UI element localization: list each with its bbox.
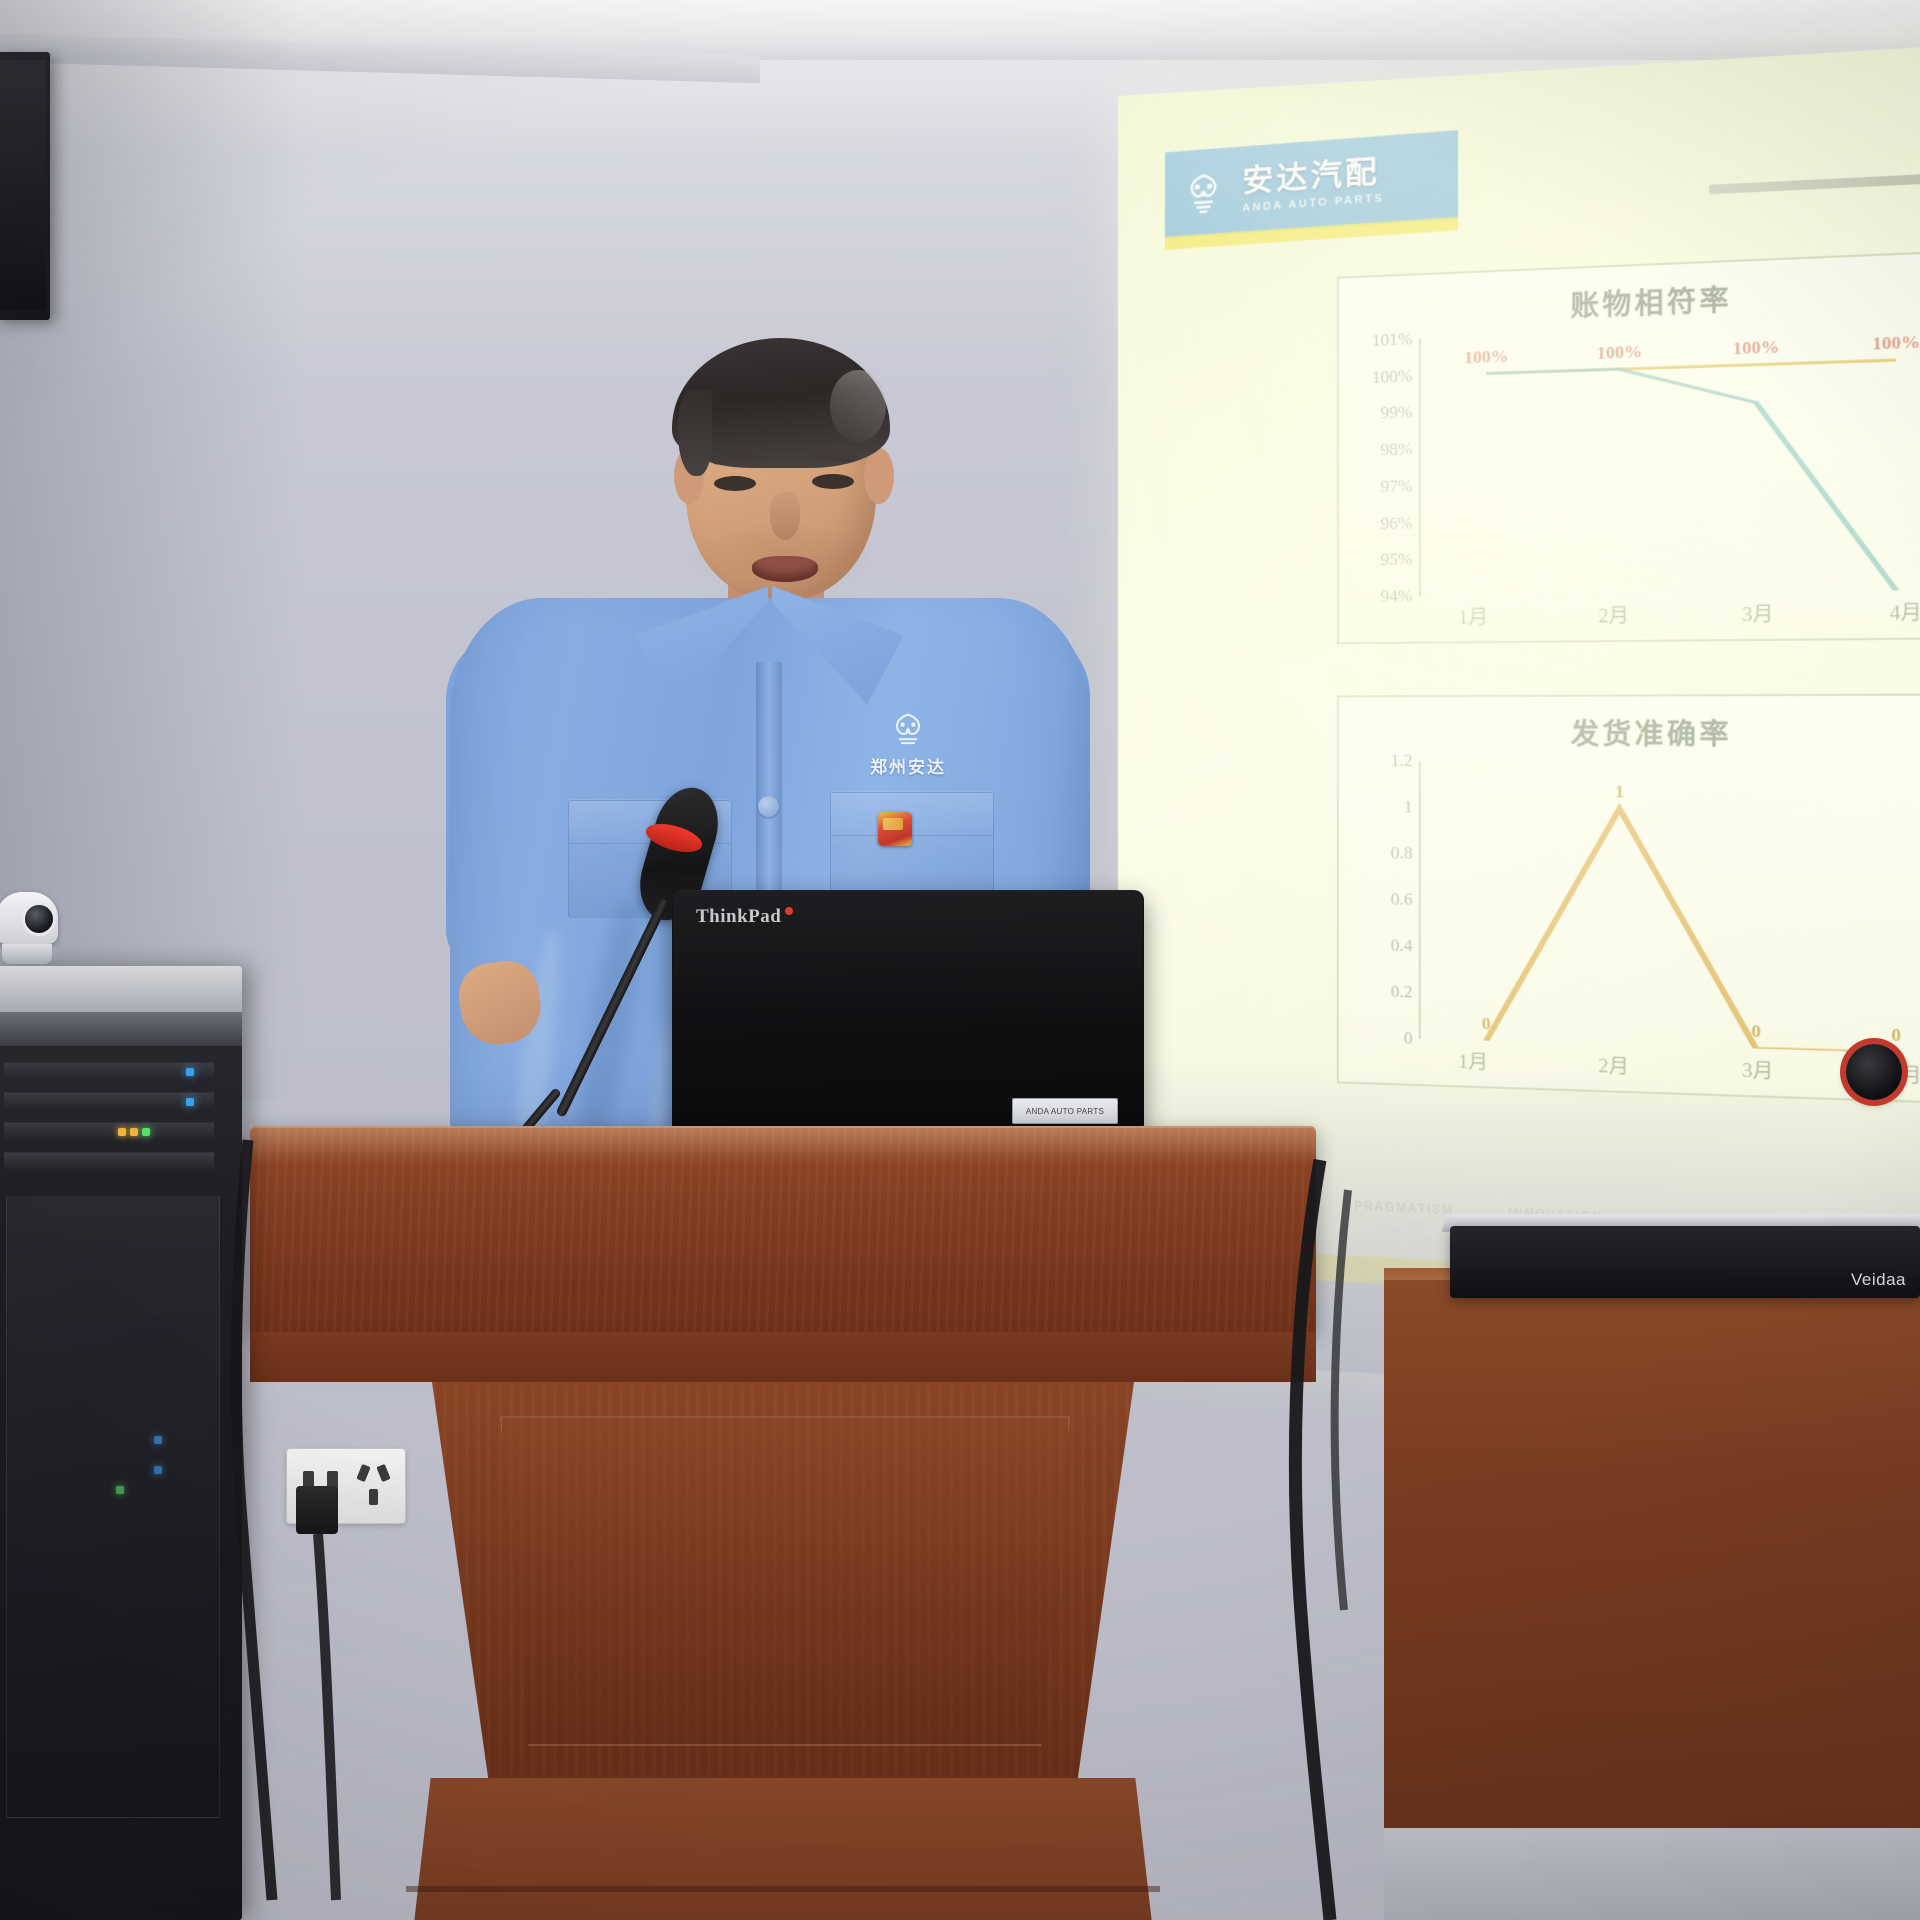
y-tick: 0.6: [1391, 889, 1413, 910]
laptop-sticker: ANDA AUTO PARTS: [1012, 1098, 1118, 1124]
av-control-device[interactable]: Veidaa: [1450, 1226, 1920, 1298]
series-container: 100%100%100%100%: [1421, 319, 1920, 596]
socket-hole: [376, 1464, 390, 1482]
y-tick: 101%: [1372, 329, 1413, 351]
laptop[interactable]: ThinkPad ANDA AUTO PARTS: [672, 890, 1144, 1130]
chart-panel-delivery-accuracy: 发货准确率 1.210.80.60.40.20 0100 1月2月3月4月: [1337, 693, 1920, 1105]
y-tick: 0.2: [1391, 982, 1413, 1003]
camera-lens: [22, 902, 56, 936]
eye-left: [714, 476, 756, 491]
chart-panel-stock-accuracy: 账物相符率 101%100%99%98%97%96%95%94% 100%100…: [1337, 249, 1920, 644]
chart-plot-area: 1.210.80.60.40.20 0100: [1355, 761, 1920, 1055]
rack-unit: [4, 1152, 214, 1171]
x-tick: 2月: [1543, 599, 1685, 632]
pocket-flap: [831, 791, 993, 836]
podium-base-line: [406, 1886, 1160, 1892]
podium-front-panel: [500, 1416, 1070, 1746]
hair-grey-highlight: [830, 370, 886, 442]
data-label: 100%: [1464, 346, 1508, 368]
chart-plot-area: 101%100%99%98%97%96%95%94% 100%100%100%1…: [1355, 319, 1920, 597]
camera-body: [0, 892, 58, 944]
data-label: 100%: [1597, 341, 1643, 364]
x-axis-labels: 1月2月3月4月: [1404, 596, 1920, 634]
uniform-company-logo: 郑州安达: [848, 710, 968, 782]
laptop-lid: ThinkPad ANDA AUTO PARTS: [672, 890, 1144, 1128]
y-tick: 95%: [1381, 549, 1413, 570]
rack-unit: [4, 1122, 214, 1141]
rack-status-led: [130, 1128, 138, 1136]
x-tick: 1月: [1404, 601, 1543, 633]
socket-hole: [369, 1489, 378, 1505]
series-container: 0100: [1421, 761, 1920, 1055]
rack-status-led: [186, 1068, 194, 1076]
y-tick: 99%: [1381, 402, 1413, 423]
rack-status-led: [142, 1128, 150, 1136]
mouth: [752, 556, 818, 582]
server-rack: [0, 966, 242, 1920]
series-0: [1486, 808, 1896, 1053]
podium-sheen: [250, 1126, 1316, 1166]
rack-door[interactable]: [6, 1196, 220, 1818]
y-tick: 0.8: [1391, 843, 1413, 864]
y-tick: 98%: [1381, 439, 1413, 460]
wall-monitor: [0, 52, 50, 320]
trefoil-emblem-icon: [1179, 166, 1229, 220]
wooden-podium: [250, 1126, 1316, 1920]
rack-unit: [4, 1062, 214, 1081]
data-label: 100%: [1733, 336, 1780, 359]
y-axis-ticks: 1.210.80.60.40.20: [1355, 761, 1417, 1039]
wall-monitor-screen: [0, 60, 46, 310]
camera-stand: [2, 944, 52, 964]
socket-hole: [356, 1464, 370, 1482]
nose: [770, 492, 800, 540]
chart-title: 发货准确率: [1339, 711, 1920, 753]
y-axis-ticks: 101%100%99%98%97%96%95%94%: [1355, 339, 1417, 597]
chart-title: 账物相符率: [1339, 267, 1920, 333]
party-flag-pin: [878, 812, 912, 846]
rack-top-bezel: [0, 1012, 242, 1046]
right-desk: [1384, 1280, 1920, 1920]
uniform-company-name: 郑州安达: [870, 753, 946, 778]
y-tick: 1.2: [1391, 751, 1413, 772]
screenshot-root: 安达汽配 ANDA AUTO PARTS 账物相符率 101%100%99%98…: [0, 0, 1920, 1920]
podium-base: [400, 1778, 1166, 1920]
thinkpad-logo: ThinkPad: [696, 906, 793, 928]
y-tick: 1: [1404, 797, 1413, 818]
cctv-camera-icon: [0, 892, 62, 976]
data-label: 1: [1615, 781, 1624, 802]
power-plug: [296, 1486, 338, 1534]
data-label: 100%: [1872, 331, 1920, 354]
fabric-shadow: [570, 896, 650, 1159]
x-tick: 4月: [1831, 596, 1920, 630]
podium-top: [250, 1126, 1316, 1332]
thinkpad-red-dot-icon: [785, 907, 793, 915]
ear-right: [864, 448, 894, 504]
y-tick: 0.4: [1391, 935, 1413, 956]
slide-top-divider: [1709, 173, 1920, 195]
floor-strip: [1384, 1828, 1920, 1920]
rack-status-led: [186, 1098, 194, 1106]
y-tick: 100%: [1372, 366, 1413, 388]
data-label: 0: [1751, 1021, 1760, 1042]
y-tick: 97%: [1381, 476, 1413, 497]
secondary-microphone: [1846, 1044, 1902, 1100]
series-1: [1486, 360, 1896, 595]
data-label: 0: [1482, 1014, 1491, 1035]
podium-edge: [250, 1332, 1316, 1382]
data-label: 0: [1891, 1025, 1901, 1047]
x-tick: 3月: [1685, 598, 1831, 631]
laptop-brand-label: ThinkPad: [696, 906, 781, 928]
rack-status-led: [118, 1128, 126, 1136]
rack-unit: [4, 1092, 214, 1111]
device-brand-label: Veidaa: [1851, 1270, 1906, 1290]
y-tick: 96%: [1381, 513, 1413, 534]
shirt-button: [758, 796, 779, 817]
trefoil-emblem-icon: [881, 710, 935, 750]
slide-brand-name-cn: 安达汽配: [1242, 155, 1384, 197]
eye-right: [812, 474, 854, 489]
